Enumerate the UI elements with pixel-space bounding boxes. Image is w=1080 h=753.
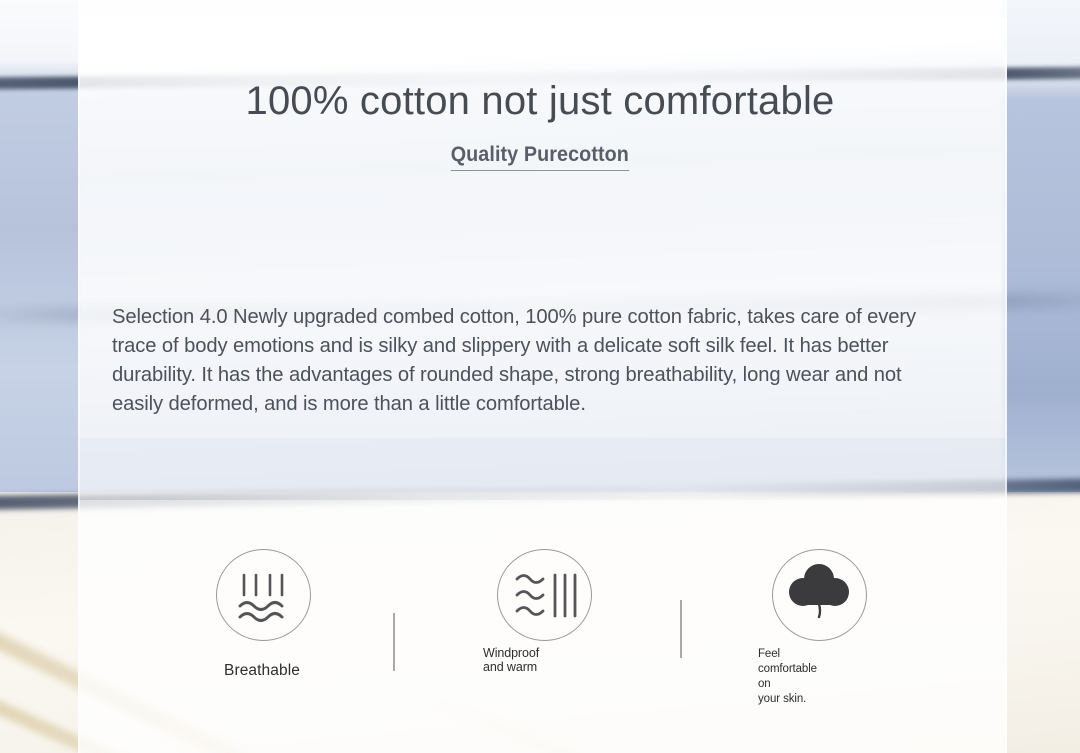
feature-label: Breathable — [224, 662, 300, 680]
feature-divider-1 — [393, 613, 395, 671]
banner-content: 100% cotton not just comfortable Quality… — [0, 0, 1080, 753]
product-feature-banner: 100% cotton not just comfortable Quality… — [0, 0, 1080, 753]
windproof-barrier-icon — [497, 549, 592, 641]
feature-label: Feel comfortable on your skin. — [758, 647, 817, 707]
feature-label: Windproof and warm — [483, 646, 539, 674]
breathable-airflow-icon — [216, 549, 311, 641]
feature-divider-2 — [680, 600, 682, 658]
feature-list: Breathable Wi — [0, 0, 1080, 753]
cotton-boll-icon — [772, 549, 867, 641]
